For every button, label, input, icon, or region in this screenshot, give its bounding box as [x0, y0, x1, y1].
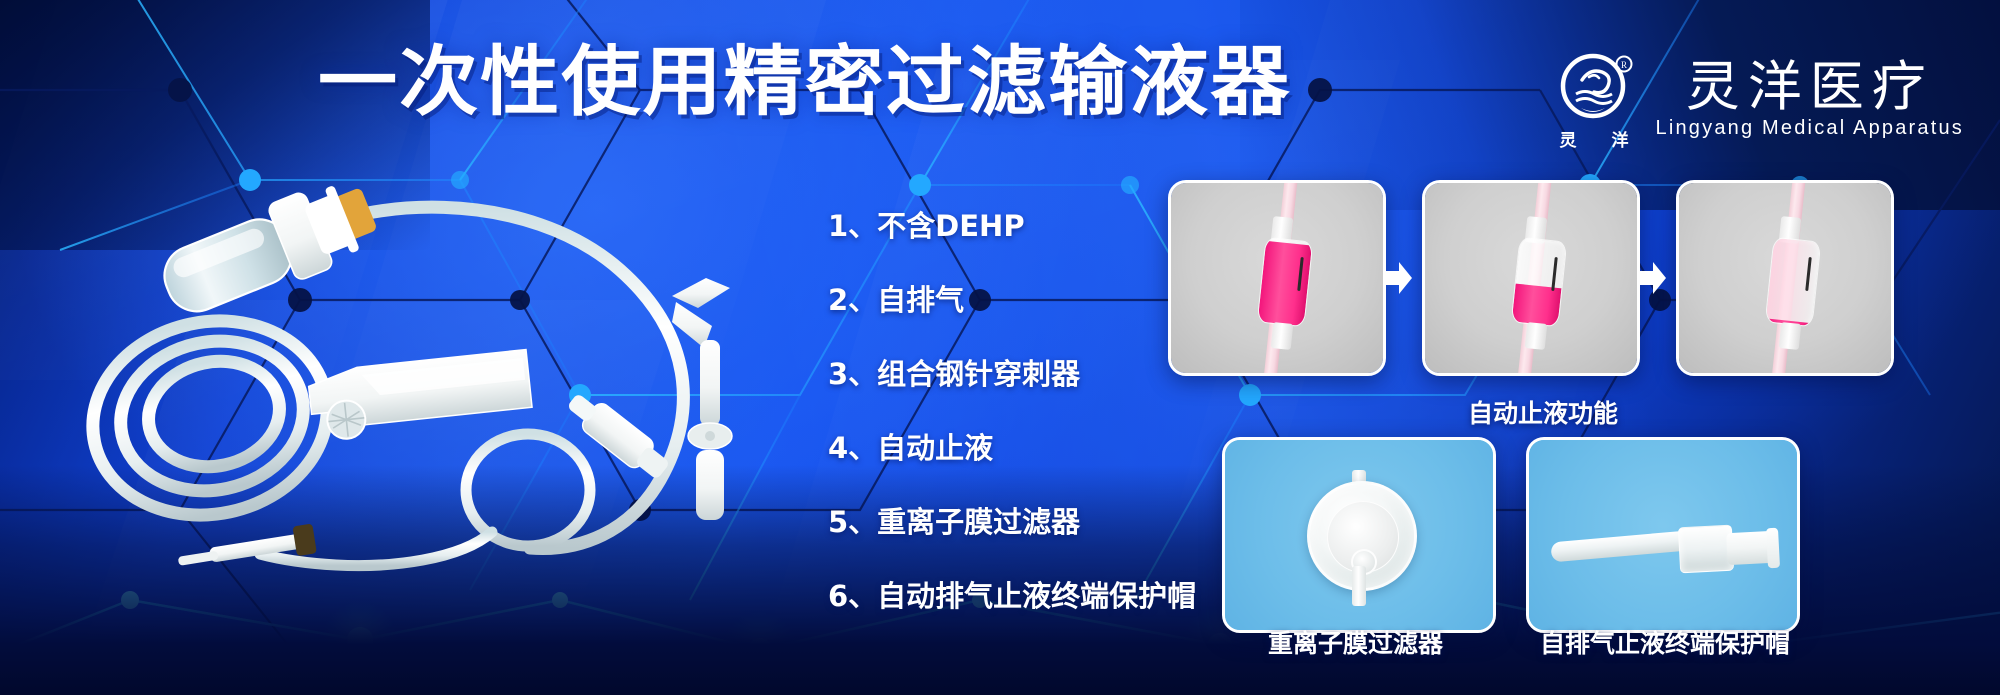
flow-arrow-right-icon	[1640, 262, 1666, 294]
feature-item-2: 2、自排气	[828, 286, 1196, 315]
company-name-cn: 灵洋医疗	[1686, 60, 1934, 114]
logo-mark-subtext: 灵 洋	[1560, 126, 1630, 151]
feature-item-4: 4、自动止液	[828, 434, 1196, 463]
infusion-set-illustration	[60, 160, 800, 580]
svg-text:R: R	[1621, 60, 1627, 70]
chamber-air-space	[1766, 238, 1820, 323]
caption-heavy-ion-membrane-filter: 重离子膜过滤器	[1268, 624, 1443, 660]
brand-name-block: 灵洋医疗 Lingyang Medical Apparatus	[1656, 60, 1964, 138]
page-title: 一次性使用精密过滤输液器	[318, 44, 1291, 120]
cap-end-ring	[1766, 528, 1780, 569]
flow-arrow-right-icon	[1386, 262, 1412, 294]
panel-drip-chamber-full	[1168, 180, 1386, 376]
panel-heavy-ion-membrane-filter	[1222, 437, 1496, 633]
panel-protective-cap	[1526, 437, 1800, 633]
logo-char-yang: 洋	[1612, 126, 1630, 151]
tube-connector-lower	[1525, 322, 1548, 350]
brand-logo: R 灵 洋 灵洋医疗 Lingyang Medical Apparatus	[1556, 46, 1964, 151]
tube-connector-lower	[1779, 322, 1802, 350]
feature-list: 1、不含DEHP 2、自排气 3、组合钢针穿刺器 4、自动止液 5、重离子膜过滤…	[828, 212, 1196, 611]
filter-outlet-stem	[1352, 566, 1366, 606]
drip-chamber	[1511, 237, 1568, 328]
company-name-en: Lingyang Medical Apparatus	[1656, 118, 1964, 138]
tube-connector-lower	[1271, 322, 1294, 350]
feature-item-3: 3、组合钢针穿刺器	[828, 360, 1196, 389]
product-banner: 一次性使用精密过滤输液器 R 灵 洋 灵洋医疗 Lingyang Medical…	[0, 0, 2000, 695]
lingyang-circular-emblem-icon: R	[1556, 46, 1634, 124]
drip-chamber	[1765, 237, 1822, 328]
logo-char-ling: 灵	[1560, 126, 1578, 151]
logo-mark: R 灵 洋	[1556, 46, 1634, 151]
feature-item-6: 6、自动排气止液终端保护帽	[828, 582, 1196, 611]
chamber-air-space	[1516, 238, 1567, 289]
caption-protective-cap: 自排气止液终端保护帽	[1540, 624, 1790, 660]
caption-auto-stop-function: 自动止液功能	[1468, 394, 1618, 430]
cap-luer-hub	[1678, 525, 1734, 574]
drip-chamber	[1257, 237, 1314, 328]
panel-drip-chamber-draining	[1422, 180, 1640, 376]
chamber-liquid-fill	[1258, 241, 1312, 326]
feature-item-5: 5、重离子膜过滤器	[828, 508, 1196, 537]
product-photo	[60, 160, 800, 580]
panel-drip-chamber-stopped	[1676, 180, 1894, 376]
feature-item-1: 1、不含DEHP	[828, 212, 1196, 241]
